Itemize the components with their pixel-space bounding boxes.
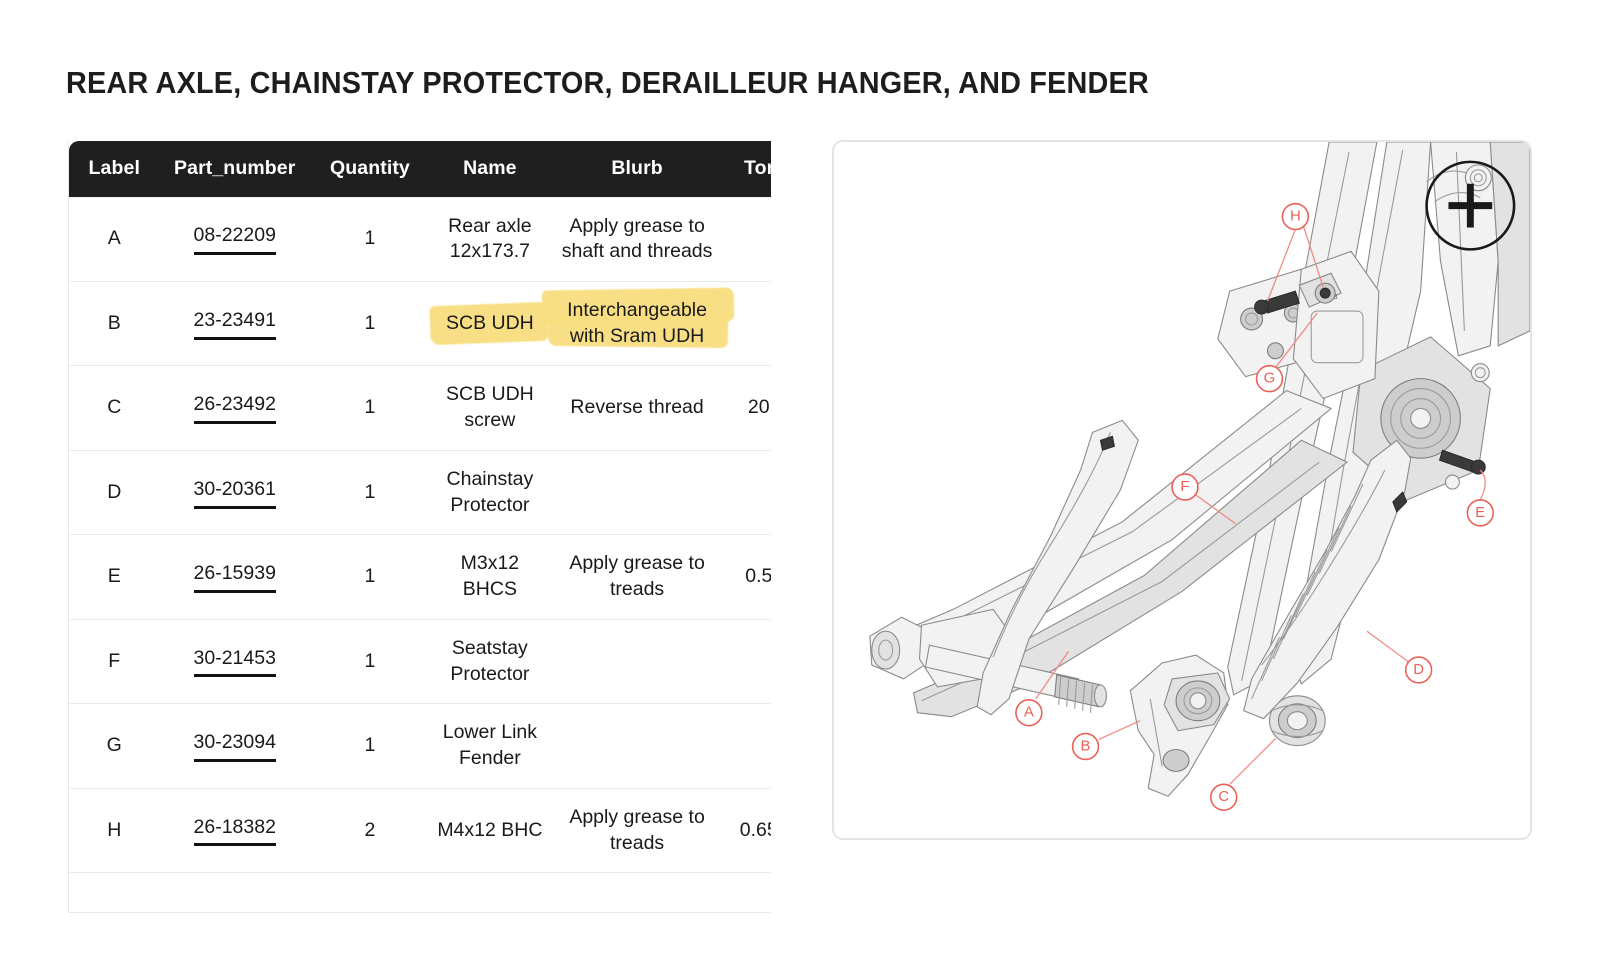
svg-text:E: E: [1475, 505, 1485, 521]
cell-torque: [724, 450, 771, 534]
cell-label: C: [69, 366, 160, 450]
svg-text:C: C: [1218, 789, 1229, 805]
cell-blurb: [550, 704, 724, 788]
page-title: REAR AXLE, CHAINSTAY PROTECTOR, DERAILLE…: [66, 65, 1149, 101]
cell-name: SCB UDH screw: [430, 366, 550, 450]
cell-torque: 20 Nm: [724, 366, 771, 450]
table-row: A08-222091Rear axle 12x173.7Apply grease…: [69, 197, 771, 281]
table-row: D30-203611Chainstay Protector: [69, 450, 771, 534]
cell-torque: 0.65 Nm: [724, 788, 771, 872]
part-number-link[interactable]: 30-21453: [194, 646, 276, 678]
svg-text:A: A: [1024, 705, 1034, 721]
cell-part-number: 30-21453: [160, 619, 310, 703]
cell-quantity: 1: [310, 197, 430, 281]
cell-quantity: 2: [310, 788, 430, 872]
cell-torque: [724, 704, 771, 788]
cell-name: SCB UDH: [430, 281, 550, 365]
svg-text:D: D: [1413, 662, 1424, 678]
part-number-link[interactable]: 08-22209: [194, 223, 276, 255]
table-row: B23-234911SCB UDHInterchangeable with Sr…: [69, 281, 771, 365]
cell-part-number: 08-22209: [160, 197, 310, 281]
cell-quantity: 1: [310, 535, 430, 619]
part-number-link[interactable]: 30-23094: [194, 730, 276, 762]
page-root: REAR AXLE, CHAINSTAY PROTECTOR, DERAILLE…: [0, 0, 1620, 976]
column-header-label[interactable]: Label: [69, 141, 160, 197]
cell-blurb: Reverse thread: [550, 366, 724, 450]
parts-table: Label Part_number Quantity Name Blurb To…: [69, 141, 771, 873]
column-header-quantity[interactable]: Quantity: [310, 141, 430, 197]
exploded-diagram-panel[interactable]: SCB: [832, 140, 1532, 840]
column-header-part-number[interactable]: Part_number: [160, 141, 310, 197]
cell-name: Rear axle 12x173.7: [430, 197, 550, 281]
table-body: A08-222091Rear axle 12x173.7Apply grease…: [69, 197, 771, 873]
table-row: F30-214531Seatstay Protector: [69, 619, 771, 703]
parts-table-panel: Label Part_number Quantity Name Blurb To…: [68, 141, 771, 913]
highlight-mark: Interchangeable with Sram UDH: [556, 298, 718, 349]
cell-part-number: 26-15939: [160, 535, 310, 619]
derailleur-hanger-part: [1130, 655, 1229, 796]
cell-blurb: Apply grease to shaft and threads: [550, 197, 724, 281]
highlight-mark: SCB UDH: [446, 311, 534, 337]
cell-label: B: [69, 281, 160, 365]
callout-D[interactable]: D: [1367, 631, 1432, 683]
table-header-row: Label Part_number Quantity Name Blurb To…: [69, 141, 771, 197]
cell-torque: 0.5 Nm: [724, 535, 771, 619]
cell-blurb: [550, 450, 724, 534]
exploded-diagram: SCB: [834, 142, 1530, 838]
cell-label: F: [69, 619, 160, 703]
table-header: Label Part_number Quantity Name Blurb To…: [69, 141, 771, 197]
cell-name: Seatstay Protector: [430, 619, 550, 703]
part-number-link[interactable]: 30-20361: [194, 477, 276, 509]
cell-quantity: 1: [310, 450, 430, 534]
column-header-torque[interactable]: Torque: [724, 141, 771, 197]
table-row: G30-230941Lower Link Fender: [69, 704, 771, 788]
callout-C[interactable]: C: [1211, 739, 1276, 811]
cell-name-text: SCB UDH: [446, 312, 534, 334]
cell-name: M3x12 BHCS: [430, 535, 550, 619]
cell-quantity: 1: [310, 281, 430, 365]
cell-name: Chainstay Protector: [430, 450, 550, 534]
cell-quantity: 1: [310, 619, 430, 703]
svg-text:H: H: [1290, 209, 1301, 225]
table-row: H26-183822M4x12 BHCApply grease to tread…: [69, 788, 771, 872]
callout-B[interactable]: B: [1073, 721, 1141, 760]
cell-part-number: 26-18382: [160, 788, 310, 872]
cell-part-number: 30-23094: [160, 704, 310, 788]
cell-part-number: 23-23491: [160, 281, 310, 365]
cell-torque: [724, 619, 771, 703]
cell-quantity: 1: [310, 366, 430, 450]
table-row: C26-234921SCB UDH screwReverse thread20 …: [69, 366, 771, 450]
cell-label: H: [69, 788, 160, 872]
cell-part-number: 30-20361: [160, 450, 310, 534]
cell-label: A: [69, 197, 160, 281]
cell-quantity: 1: [310, 704, 430, 788]
lower-link-fender-part: SCB: [1293, 251, 1379, 398]
cell-name: M4x12 BHC: [430, 788, 550, 872]
cell-name: Lower Link Fender: [430, 704, 550, 788]
column-header-blurb[interactable]: Blurb: [550, 141, 724, 197]
svg-text:G: G: [1264, 371, 1276, 387]
cell-torque: [724, 197, 771, 281]
svg-text:F: F: [1180, 479, 1189, 495]
cell-blurb: [550, 619, 724, 703]
cell-blurb: Apply grease to treads: [550, 788, 724, 872]
cell-label: E: [69, 535, 160, 619]
part-number-link[interactable]: 26-15939: [194, 561, 276, 593]
cell-label: G: [69, 704, 160, 788]
cell-part-number: 26-23492: [160, 366, 310, 450]
callout-E[interactable]: E: [1467, 470, 1493, 526]
cell-blurb: Apply grease to treads: [550, 535, 724, 619]
svg-text:B: B: [1081, 739, 1091, 755]
cell-label: D: [69, 450, 160, 534]
part-number-link[interactable]: 26-23492: [194, 392, 276, 424]
column-header-name[interactable]: Name: [430, 141, 550, 197]
cell-blurb: Interchangeable with Sram UDH: [550, 281, 724, 365]
table-row: E26-159391M3x12 BHCSApply grease to trea…: [69, 535, 771, 619]
part-number-link[interactable]: 23-23491: [194, 308, 276, 340]
part-number-link[interactable]: 26-18382: [194, 815, 276, 847]
